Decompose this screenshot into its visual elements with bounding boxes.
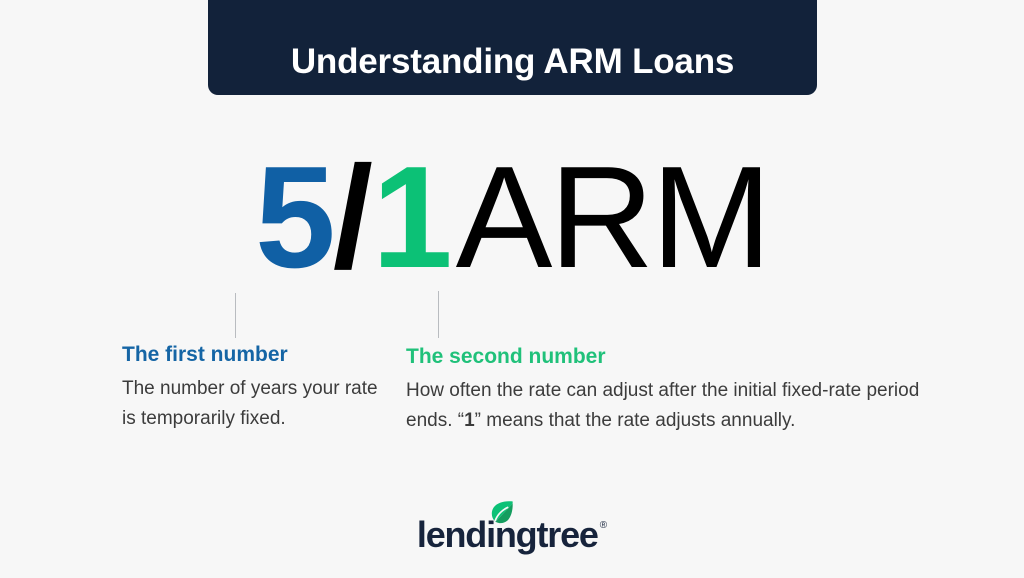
headline-suffix-arm: ARM: [456, 145, 769, 290]
connector-line-first-number: [235, 293, 236, 338]
headline-first-number: 5: [255, 145, 333, 290]
page-title: Understanding ARM Loans: [291, 44, 734, 79]
callout-first-number: The first number The number of years you…: [122, 342, 382, 433]
callout-second-number-body-emphasis: 1: [464, 410, 475, 431]
callout-second-number-body: How often the rate can adjust after the …: [406, 376, 951, 435]
headline-separator: /: [333, 145, 370, 290]
registered-trademark-icon: ®: [600, 500, 607, 531]
callout-first-number-body: The number of years your rate is tempora…: [122, 374, 382, 433]
callout-second-number-body-part2: ” means that the rate adjusts annually.: [475, 410, 796, 431]
callout-second-number-title: The second number: [406, 344, 951, 370]
headline-arm-term: 5 / 1 ARM: [0, 147, 1024, 287]
brand-logo: lendingtree ®: [0, 500, 1024, 553]
connector-line-second-number: [438, 291, 439, 338]
leaf-icon: [488, 500, 515, 527]
callout-first-number-title: The first number: [122, 342, 382, 368]
headline-second-number: 1: [372, 145, 450, 290]
header-banner: Understanding ARM Loans: [208, 0, 817, 95]
callout-second-number: The second number How often the rate can…: [406, 344, 951, 435]
